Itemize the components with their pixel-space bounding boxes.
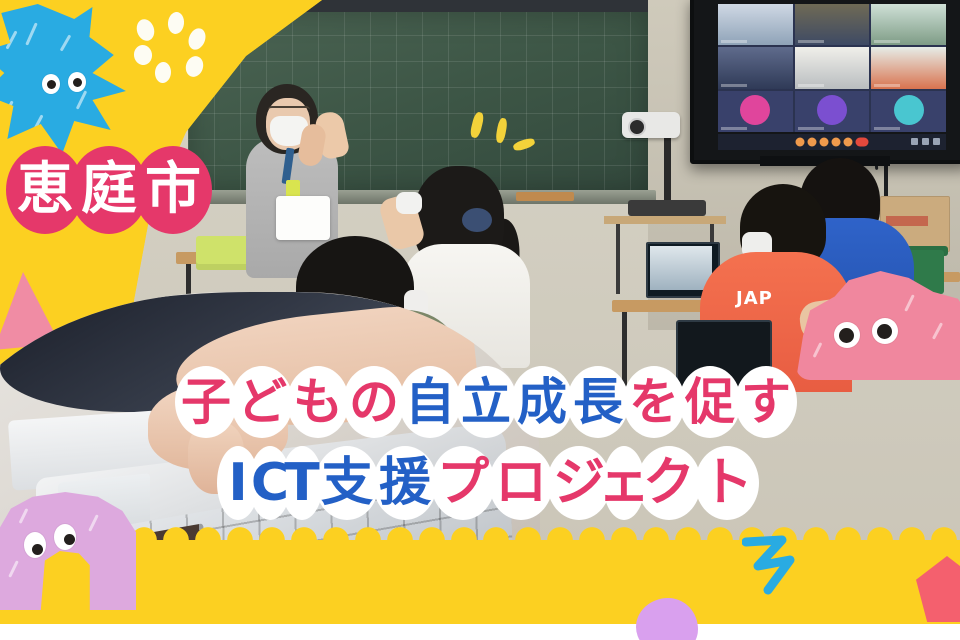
headline-char-glyph: 支 — [321, 457, 373, 509]
city-badge: 恵 庭 市 — [6, 146, 198, 234]
headline-char: す — [733, 360, 799, 444]
blob-pupil — [73, 78, 82, 87]
headline-char-glyph: 立 — [461, 377, 511, 427]
city-badge-char: 市 — [134, 146, 212, 234]
headline-char-glyph: 子 — [181, 377, 231, 427]
settings-icon — [911, 138, 918, 145]
blob-pupil — [877, 324, 892, 339]
headline-char-glyph: プ — [437, 457, 489, 509]
headline-line-1: 子どもの自立成長を促す — [12, 360, 960, 444]
video-tile — [795, 47, 870, 88]
student-face-mask — [396, 192, 422, 214]
headline-char-glyph: ど — [237, 377, 287, 427]
video-tile-avatar — [795, 91, 870, 132]
headline-char: ト — [693, 440, 761, 526]
participants-icon — [832, 138, 841, 147]
blob-pupil — [839, 328, 854, 343]
tablet-display — [650, 246, 712, 290]
side-desk-top — [604, 216, 726, 224]
headline-line-2: ICT支援プロジェクト — [18, 440, 960, 526]
headline-char-glyph: 援 — [379, 457, 431, 509]
video-tile — [718, 47, 793, 88]
headline-char-glyph: も — [293, 377, 343, 427]
video-call-grid — [718, 4, 946, 132]
video-tile-avatar — [718, 91, 793, 132]
headline-char-glyph: 成 — [517, 377, 567, 427]
headline-char-glyph: す — [741, 377, 791, 427]
scalloped-edge — [0, 527, 960, 553]
headline-char-glyph: 自 — [405, 377, 455, 427]
blob-pupil — [64, 534, 75, 545]
video-tile — [871, 47, 946, 88]
avatar — [740, 95, 770, 125]
headline-char-glyph: 長 — [573, 377, 623, 427]
people-icon — [922, 138, 929, 145]
video-call-toolbar — [718, 134, 946, 150]
document-camera-head — [622, 112, 680, 138]
video-tile — [871, 4, 946, 45]
avatar — [894, 95, 924, 125]
mic-icon — [796, 138, 805, 147]
headline-char-glyph: ク — [643, 457, 695, 509]
headline-char-glyph: を — [629, 377, 679, 427]
video-tile — [718, 4, 793, 45]
headline-char-glyph: ロ — [495, 457, 547, 509]
blob-pupil — [32, 544, 43, 555]
share-icon — [820, 138, 829, 147]
wall-monitor — [690, 0, 960, 164]
jersey-text: JAP — [736, 288, 773, 309]
blue-zigzag-icon — [742, 534, 812, 596]
hair-tie — [462, 208, 492, 232]
end-call-icon — [856, 138, 869, 147]
headline-char-glyph: ト — [701, 457, 753, 509]
headline-char-glyph: 促 — [685, 377, 735, 427]
chat-icon — [844, 138, 853, 147]
headline-char-glyph: の — [349, 377, 399, 427]
headline-char-glyph: I — [228, 457, 247, 509]
document-camera-base — [628, 200, 706, 216]
bottom-yellow-band — [0, 540, 960, 624]
paper-sheet — [276, 196, 330, 240]
layout-icon — [933, 138, 940, 145]
video-tile — [795, 4, 870, 45]
headline-char-glyph: T — [284, 457, 319, 509]
blob-pupil — [47, 80, 56, 89]
hero-banner: JAP — [0, 0, 960, 640]
bottom-white-strip — [0, 624, 960, 640]
avatar — [817, 95, 847, 125]
headline: 子どもの自立成長を促す ICT支援プロジェクト — [0, 360, 960, 526]
video-tile-avatar — [871, 91, 946, 132]
camera-icon — [808, 138, 817, 147]
